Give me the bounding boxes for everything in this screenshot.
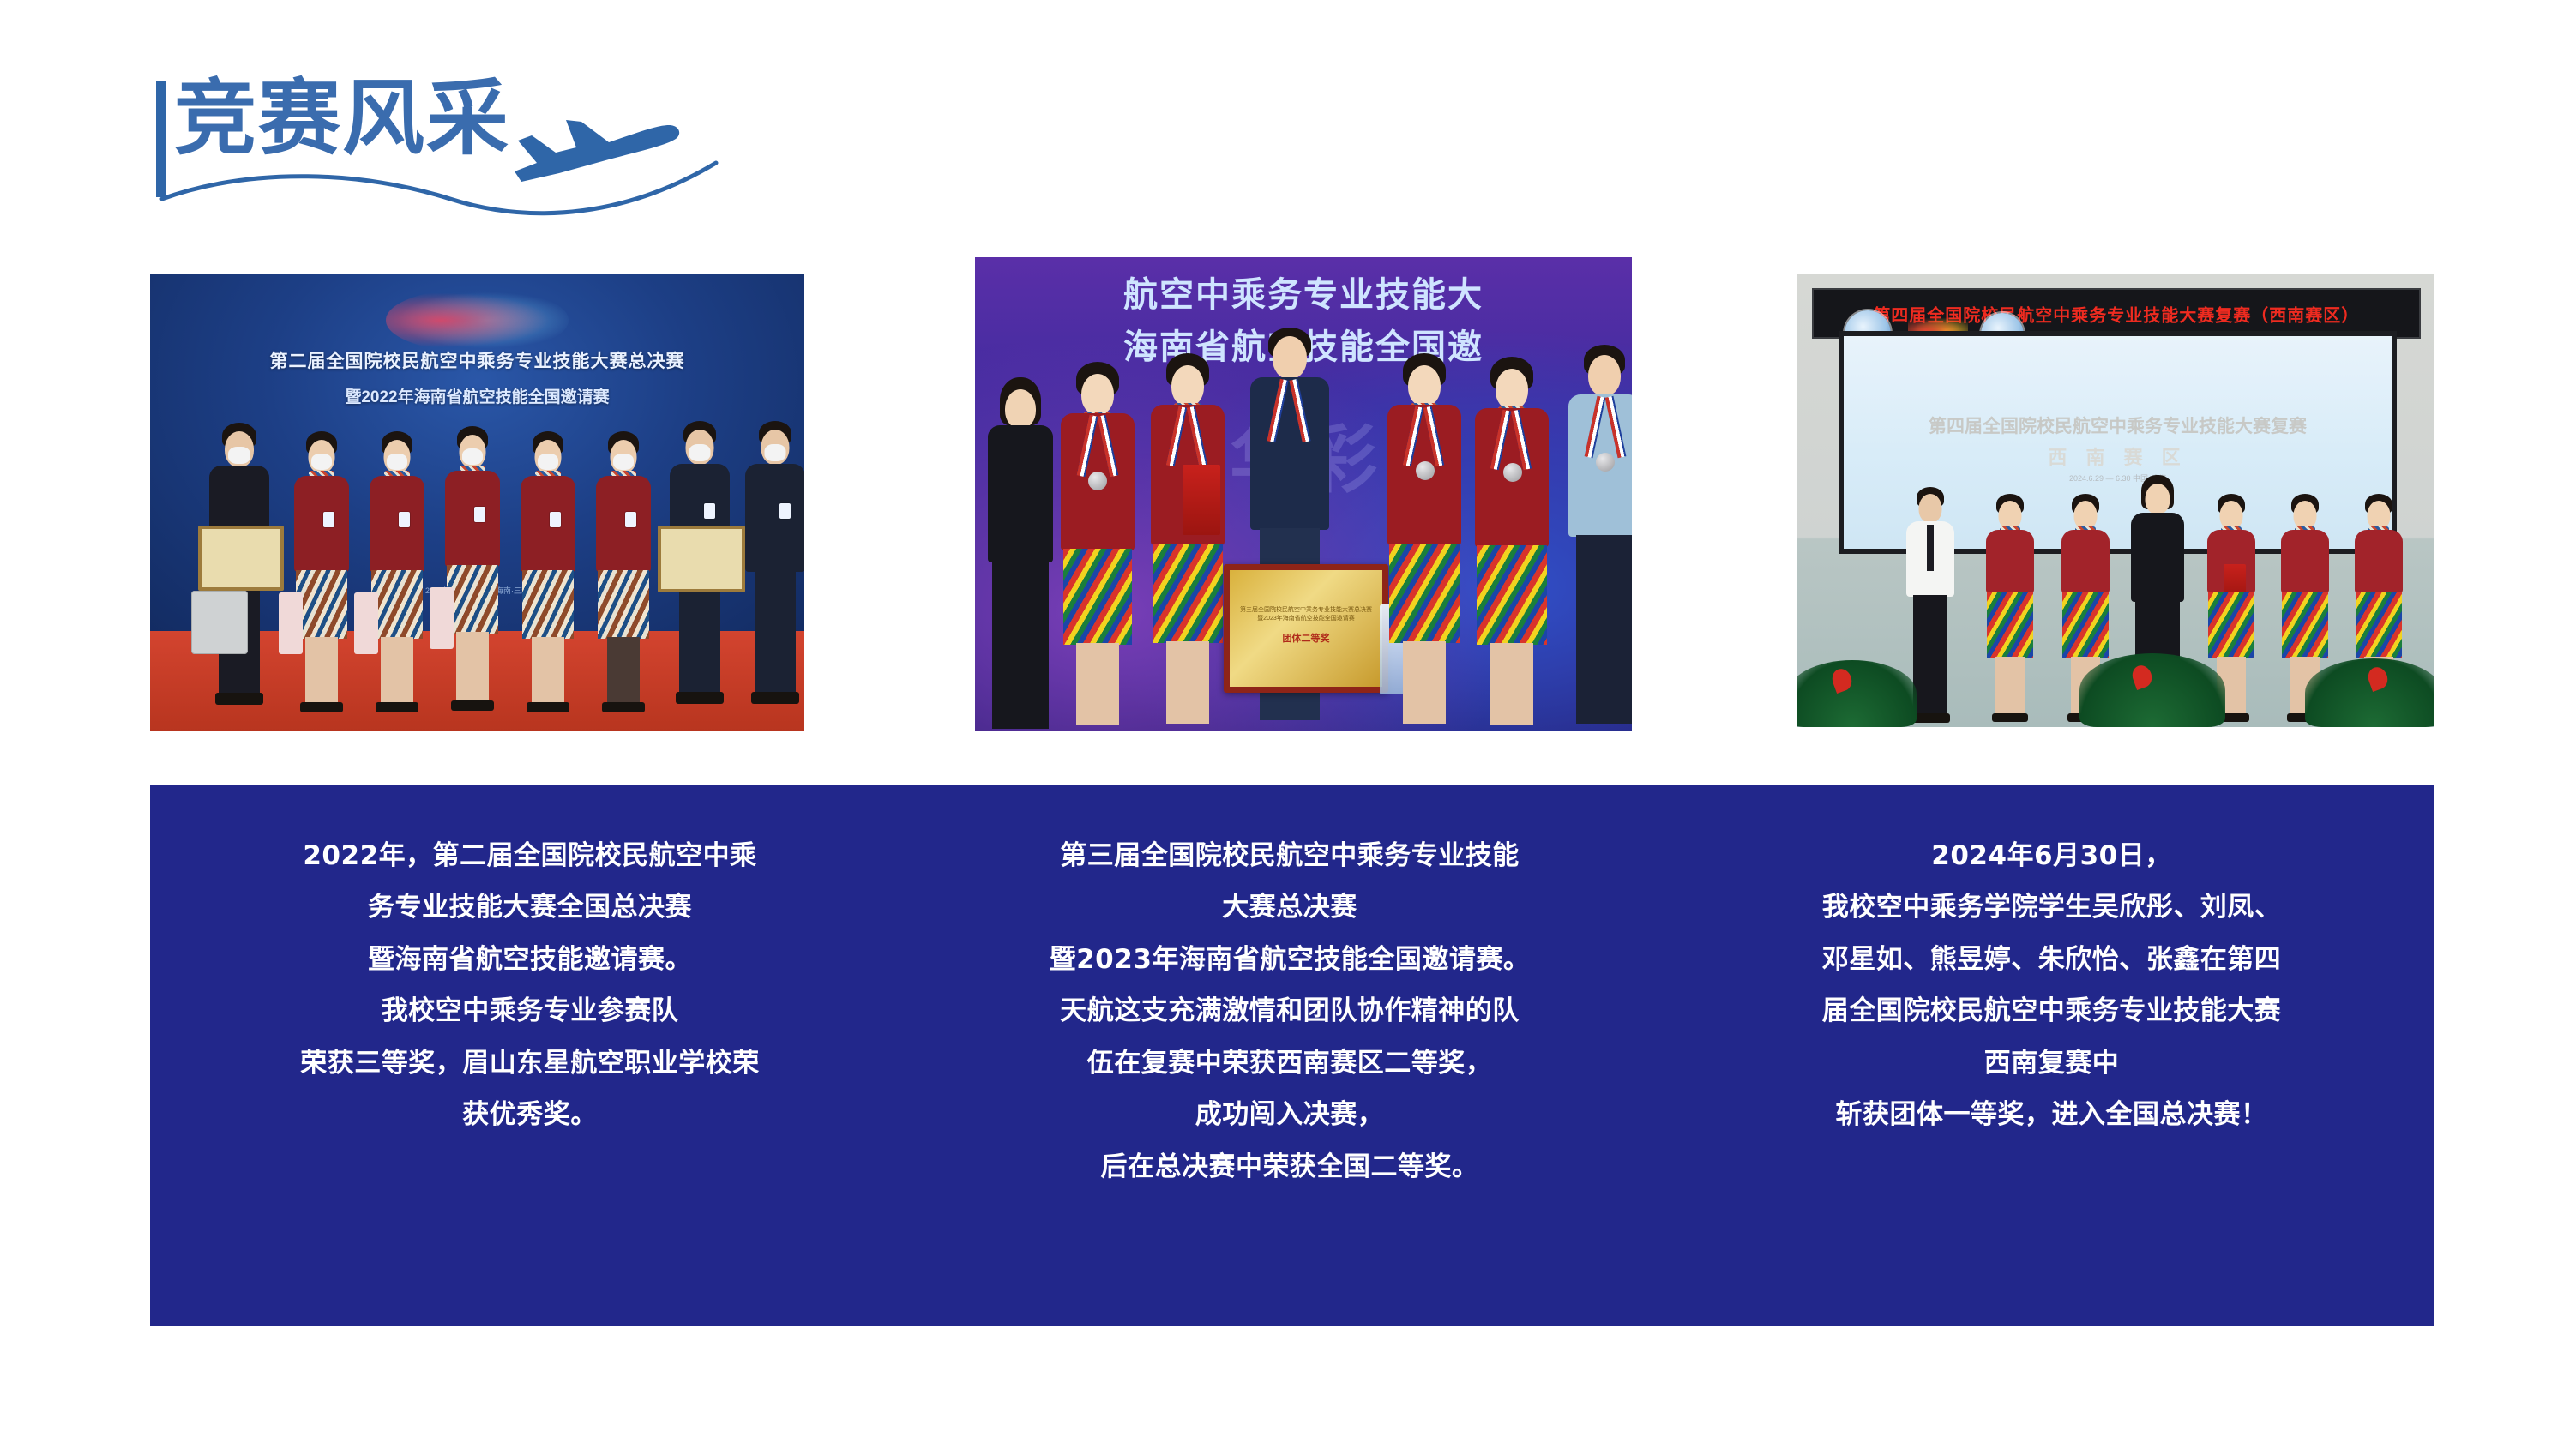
caption-line: 斩获团体一等奖，进入全国总决赛！ [1670, 1089, 2434, 1140]
caption-line: 我校空中乘务专业参赛队 [150, 985, 910, 1037]
caption-line: 暨2023年海南省航空技能全国邀请赛。 [910, 934, 1670, 985]
photo2-plaque-award: 团体二等奖 [1239, 631, 1374, 645]
photo1-person-6 [589, 430, 658, 731]
photo1-backdrop-subheadline: 暨2022年海南省航空技能全国邀请赛 [209, 384, 746, 407]
photo2-plaque-title: 第三届全国院校民航空中乘务专业技能大赛总决赛暨2023年海南省航空技能全国邀请赛 [1239, 605, 1374, 622]
photo3-person-2 [1978, 494, 2042, 727]
title-accent-bar [156, 81, 166, 197]
caption-line: 大赛总决赛 [910, 881, 1670, 933]
photo3-plant-left [1797, 660, 1917, 727]
photo3-banner-text: 第四届全国院校民航空中乘务专业技能大赛复赛（西南赛区） [1814, 301, 2419, 326]
photo2-red-envelope [1183, 465, 1220, 535]
caption-line: 后在总决赛中荣获全国二等奖。 [910, 1141, 1670, 1193]
photo1-person-7 [663, 421, 737, 731]
caption-line: 天航这支充满激情和团队协作精神的队 [910, 985, 1670, 1037]
competition-photo-2022[interactable]: 第二届全国院校民航空中乘务专业技能大赛总决赛 暨2022年海南省航空技能全国邀请… [150, 274, 804, 731]
caption-line: 成功闯入决赛， [910, 1089, 1670, 1140]
caption-column-2023: 第三届全国院校民航空中乘务专业技能 大赛总决赛 暨2023年海南省航空技能全国邀… [910, 830, 1670, 1193]
photo1-person-3 [363, 430, 431, 731]
competition-photo-2023[interactable]: 航空中乘务专业技能大 海南省航空技能全国邀 华彩 [975, 257, 1632, 731]
photo1-person-1 [202, 423, 277, 731]
airplane-takeoff-icon [506, 101, 686, 191]
caption-line: 2022年，第二届全国院校民航空中乘 [150, 830, 910, 881]
photo1-person-8 [738, 421, 804, 731]
photo1-backdrop-headline: 第二届全国院校民航空中乘务专业技能大赛总决赛 [183, 347, 772, 373]
page-header: 竞赛风采 [150, 60, 836, 214]
photo3-screen-date: 2024.6.29 — 6.30 中国·成都 [1866, 472, 2370, 484]
caption-line: 伍在复赛中荣获西南赛区二等奖， [910, 1037, 1670, 1089]
photo3-plant-right [2305, 658, 2434, 727]
caption-line: 邓星如、熊昱婷、朱欣怡、张鑫在第四 [1670, 934, 2434, 985]
caption-line: 我校空中乘务学院学生吴欣彤、刘凤、 [1670, 881, 2434, 933]
photo1-person-5 [514, 430, 582, 731]
photo1-person-2 [287, 430, 356, 731]
photo2-person-6 [1467, 357, 1556, 731]
caption-column-2024: 2024年6月30日， 我校空中乘务学院学生吴欣彤、刘凤、 邓星如、熊昱婷、朱欣… [1670, 830, 2434, 1141]
competition-photo-2024[interactable]: 第四届全国院校民航空中乘务专业技能大赛复赛（西南赛区） 第四届全国院校民航空中乘… [1797, 274, 2434, 727]
caption-line: 2024年6月30日， [1670, 830, 2434, 881]
photo2-person-3 [1143, 353, 1232, 731]
photo2-award-plaque: 第三届全国院校民航空中乘务专业技能大赛总决赛暨2023年海南省航空技能全国邀请赛… [1224, 564, 1388, 693]
photo2-person-7 [1563, 345, 1632, 731]
caption-line: 获优秀奖。 [150, 1089, 910, 1140]
photo2-person-5 [1380, 353, 1469, 731]
photo1-person-4 [438, 426, 507, 731]
photo2-person-1 [984, 377, 1057, 731]
caption-line: 暨海南省航空技能邀请赛。 [150, 934, 910, 985]
caption-line: 西南复赛中 [1670, 1037, 2434, 1089]
photo3-screen-subtitle: 西 南 赛 区 [1866, 442, 2370, 470]
photo1-event-logo-icon [386, 288, 569, 352]
photo3-plant-center [2079, 653, 2225, 727]
caption-panel: 2022年，第二届全国院校民航空中乘 务专业技能大赛全国总决赛 暨海南省航空技能… [150, 785, 2434, 1326]
photo2-person-2 [1054, 362, 1141, 731]
page-title: 竞赛风采 [174, 67, 510, 170]
photo3-screen-title: 第四届全国院校民航空中乘务专业技能大赛复赛 [1866, 412, 2370, 438]
caption-line: 务专业技能大赛全国总决赛 [150, 881, 910, 933]
caption-column-2022: 2022年，第二届全国院校民航空中乘 务专业技能大赛全国总决赛 暨海南省航空技能… [150, 830, 910, 1141]
caption-line: 第三届全国院校民航空中乘务专业技能 [910, 830, 1670, 881]
caption-line: 届全国院校民航空中乘务专业技能大赛 [1670, 985, 2434, 1037]
caption-line: 荣获三等奖，眉山东星航空职业学校荣 [150, 1037, 910, 1089]
photo2-backdrop-headline: 航空中乘务专业技能大 [975, 267, 1632, 316]
